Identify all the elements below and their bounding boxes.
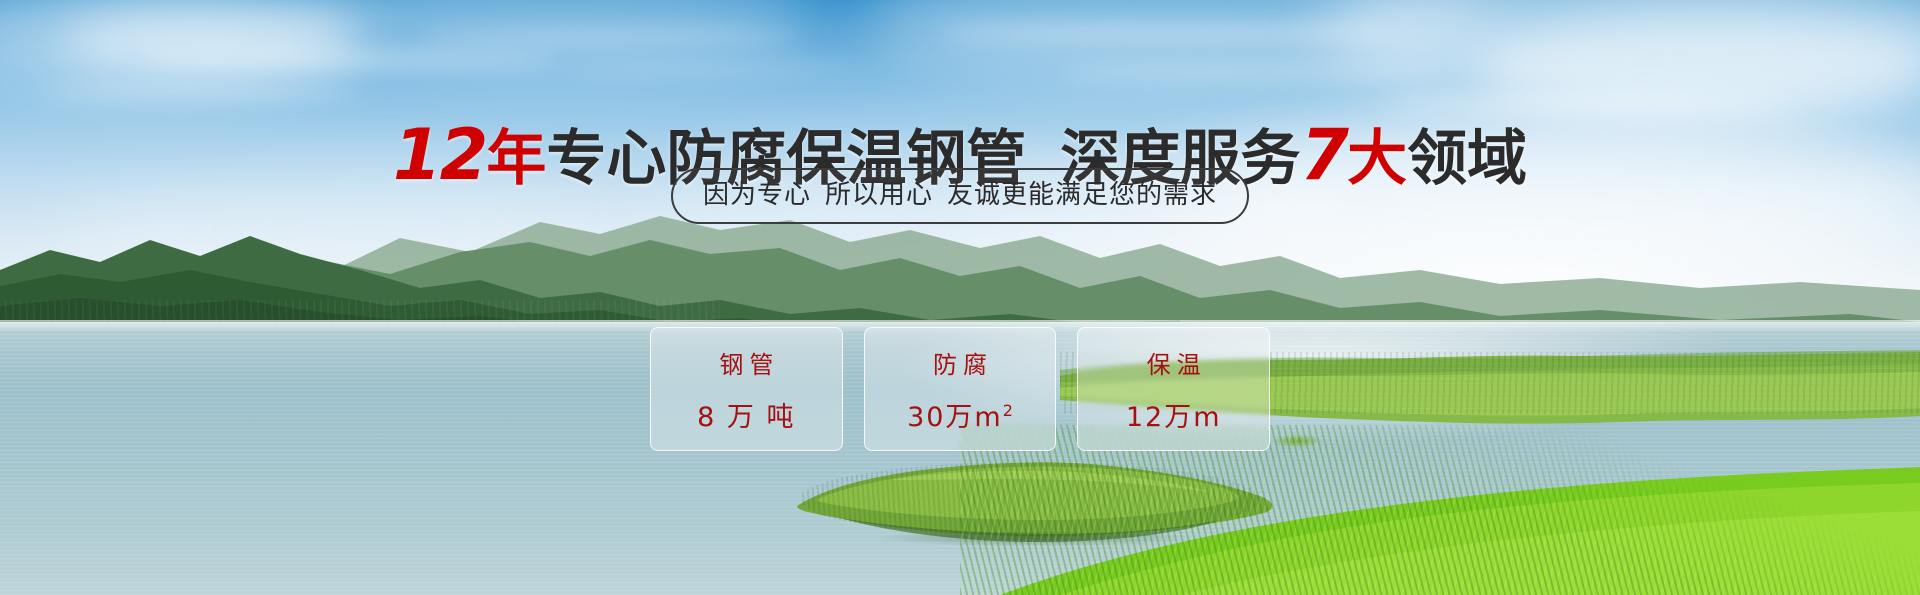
subtitle-part-1: 因为专心 <box>703 180 811 210</box>
stat-card-value: 8 万 吨 <box>697 396 795 433</box>
stat-card-steel-pipe[interactable]: 钢管 8 万 吨 <box>650 327 843 451</box>
stat-card-title: 钢管 <box>713 350 779 380</box>
stat-card-value-text: 12万m <box>1126 402 1222 433</box>
stat-card-group: 钢管 8 万 吨 防腐 30万m2 保温 12万m <box>650 327 1270 451</box>
stat-card-value: 12万m <box>1126 396 1222 433</box>
stat-card-title: 防腐 <box>927 350 993 380</box>
stat-card-anticorrosion[interactable]: 防腐 30万m2 <box>864 327 1057 451</box>
subtitle-pill: 因为专心所以用心友诚更能满足您的需求 <box>671 168 1249 224</box>
stat-card-title: 保温 <box>1141 350 1207 380</box>
subtitle-part-2: 所以用心 <box>825 180 933 210</box>
subtitle-container: 因为专心所以用心友诚更能满足您的需求 <box>0 168 1920 224</box>
stat-card-value: 30万m2 <box>907 396 1013 433</box>
hero-banner: 12年专心防腐保温钢管深度服务7大领域 因为专心所以用心友诚更能满足您的需求 钢… <box>0 0 1920 595</box>
stat-card-value-text: 8 万 吨 <box>697 402 795 433</box>
subtitle-part-3: 友诚更能满足您的需求 <box>947 180 1217 210</box>
stat-card-insulation[interactable]: 保温 12万m <box>1077 327 1270 451</box>
stat-card-value-superscript: 2 <box>1003 401 1013 420</box>
stat-card-value-text: 30万m <box>907 402 1003 433</box>
